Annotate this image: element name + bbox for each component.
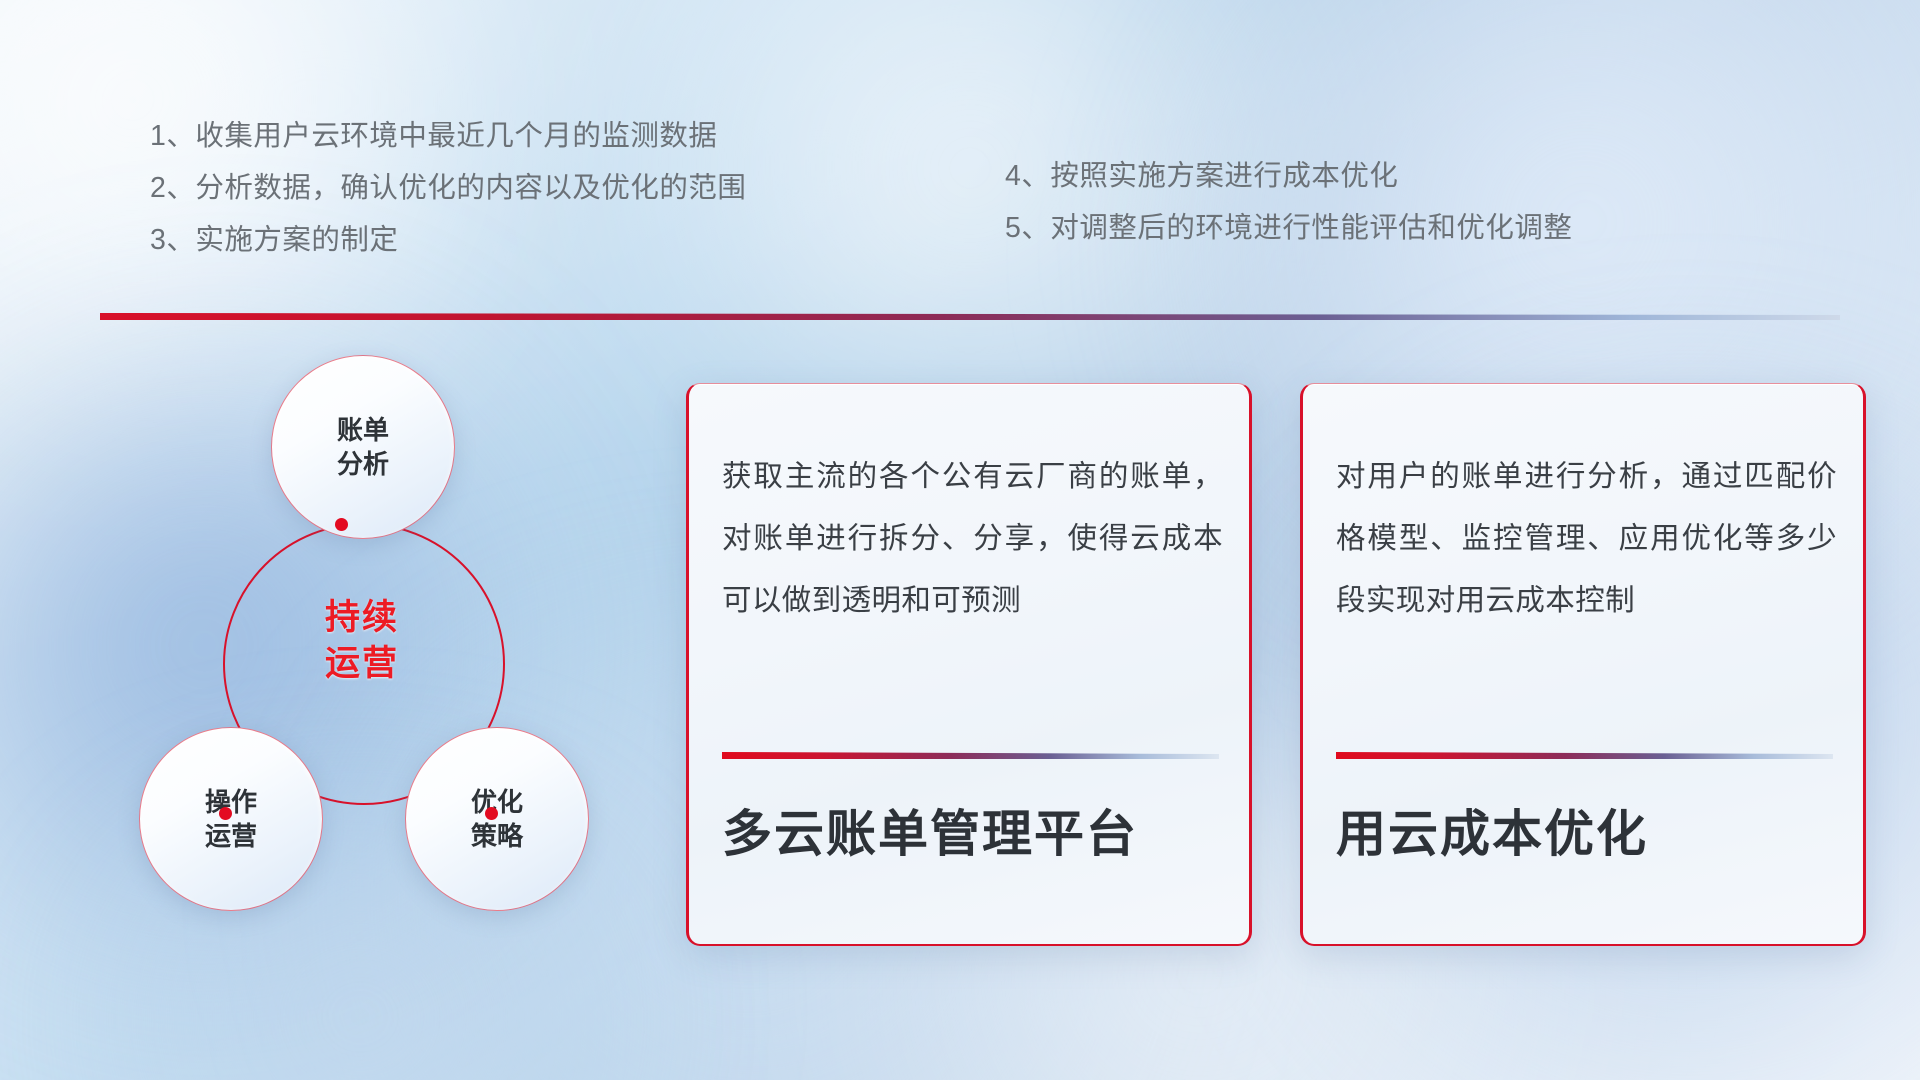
venn-node-label-line2: 运营 (205, 819, 257, 853)
card-divider (1336, 752, 1833, 759)
venn-diagram: 账单 分析 操作 运营 优化 策略 持续 运营 (95, 355, 635, 935)
venn-node-optimization-strategy[interactable]: 优化 策略 (405, 727, 589, 911)
step-item: 1、收集用户云环境中最近几个月的监测数据 (150, 110, 930, 162)
card-description: 获取主流的各个公有云厂商的账单，对账单进行拆分、分享，使得云成本可以做到透明和可… (722, 446, 1223, 632)
venn-node-billing-analysis[interactable]: 账单 分析 (271, 355, 455, 539)
feature-card-cloud-cost-optimization[interactable]: 对用户的账单进行分析，通过匹配价格模型、监控管理、应用优化等多少段实现对用云成本… (1300, 383, 1866, 946)
card-title: 用云成本优化 (1336, 794, 1648, 866)
venn-node-label-line2: 分析 (337, 447, 389, 481)
card-description: 对用户的账单进行分析，通过匹配价格模型、监控管理、应用优化等多少段实现对用云成本… (1336, 446, 1837, 632)
venn-node-operations[interactable]: 操作 运营 (139, 727, 323, 911)
venn-center-label-line2: 运营 (223, 641, 501, 687)
venn-center-label: 持续 运营 (223, 595, 501, 687)
card-title: 多云账单管理平台 (722, 794, 1138, 866)
step-item: 4、按照实施方案进行成本优化 (1005, 150, 1765, 202)
venn-connector-dot-bottom-left (219, 807, 232, 820)
feature-card-multicloud-billing[interactable]: 获取主流的各个公有云厂商的账单，对账单进行拆分、分享，使得云成本可以做到透明和可… (686, 383, 1252, 946)
venn-connector-dot-top (335, 518, 348, 531)
venn-connector-dot-bottom-right (485, 807, 498, 820)
venn-center-label-line1: 持续 (223, 595, 501, 641)
venn-node-label-line1: 账单 (337, 413, 389, 447)
step-item: 3、实施方案的制定 (150, 214, 930, 266)
card-divider (722, 752, 1219, 759)
steps-list-left: 1、收集用户云环境中最近几个月的监测数据 2、分析数据，确认优化的内容以及优化的… (150, 110, 930, 266)
step-item: 2、分析数据，确认优化的内容以及优化的范围 (150, 162, 930, 214)
step-item: 5、对调整后的环境进行性能评估和优化调整 (1005, 202, 1765, 254)
venn-node-label-line2: 策略 (471, 819, 523, 853)
steps-list-right: 4、按照实施方案进行成本优化 5、对调整后的环境进行性能评估和优化调整 (1005, 150, 1765, 254)
